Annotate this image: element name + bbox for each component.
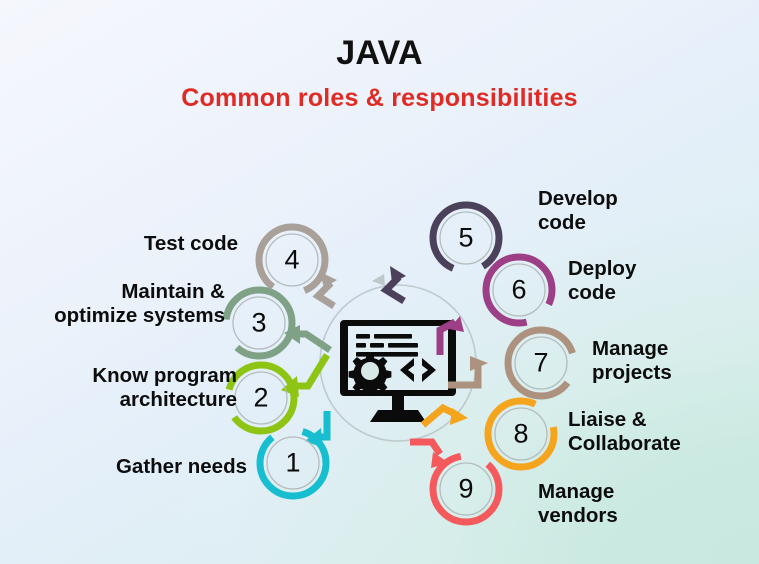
node-circle-4[interactable]	[259, 227, 325, 293]
caption-know-architecture: Know program architecture	[0, 364, 237, 412]
node-circle-1[interactable]	[260, 430, 326, 496]
slide-canvas: JAVA Common roles & responsibilities	[0, 0, 759, 564]
node-circle-5[interactable]	[433, 205, 499, 271]
caption-liaise-collaborate: Liaise & Collaborate	[568, 408, 758, 456]
node-circle-6[interactable]	[486, 257, 552, 323]
caption-gather-needs: Gather needs	[7, 455, 247, 479]
node-circle-3[interactable]	[226, 290, 292, 356]
node-circle-7[interactable]	[508, 330, 574, 396]
cycle-direction-arrowhead	[372, 274, 385, 286]
node-circle-9[interactable]	[433, 456, 499, 522]
caption-maintain-optimize: Maintain & optimize systems	[0, 280, 225, 328]
caption-manage-vendors: Manage vendors	[538, 480, 748, 528]
caption-develop-code: Develop code	[538, 187, 748, 235]
arrow-to-node-9	[410, 442, 440, 454]
caption-manage-projects: Manage projects	[592, 337, 758, 385]
node-circle-2[interactable]	[228, 365, 294, 431]
caption-test-code: Test code	[18, 232, 238, 256]
caption-deploy-code: Deploy code	[568, 257, 758, 305]
node-circle-8[interactable]	[488, 401, 554, 467]
